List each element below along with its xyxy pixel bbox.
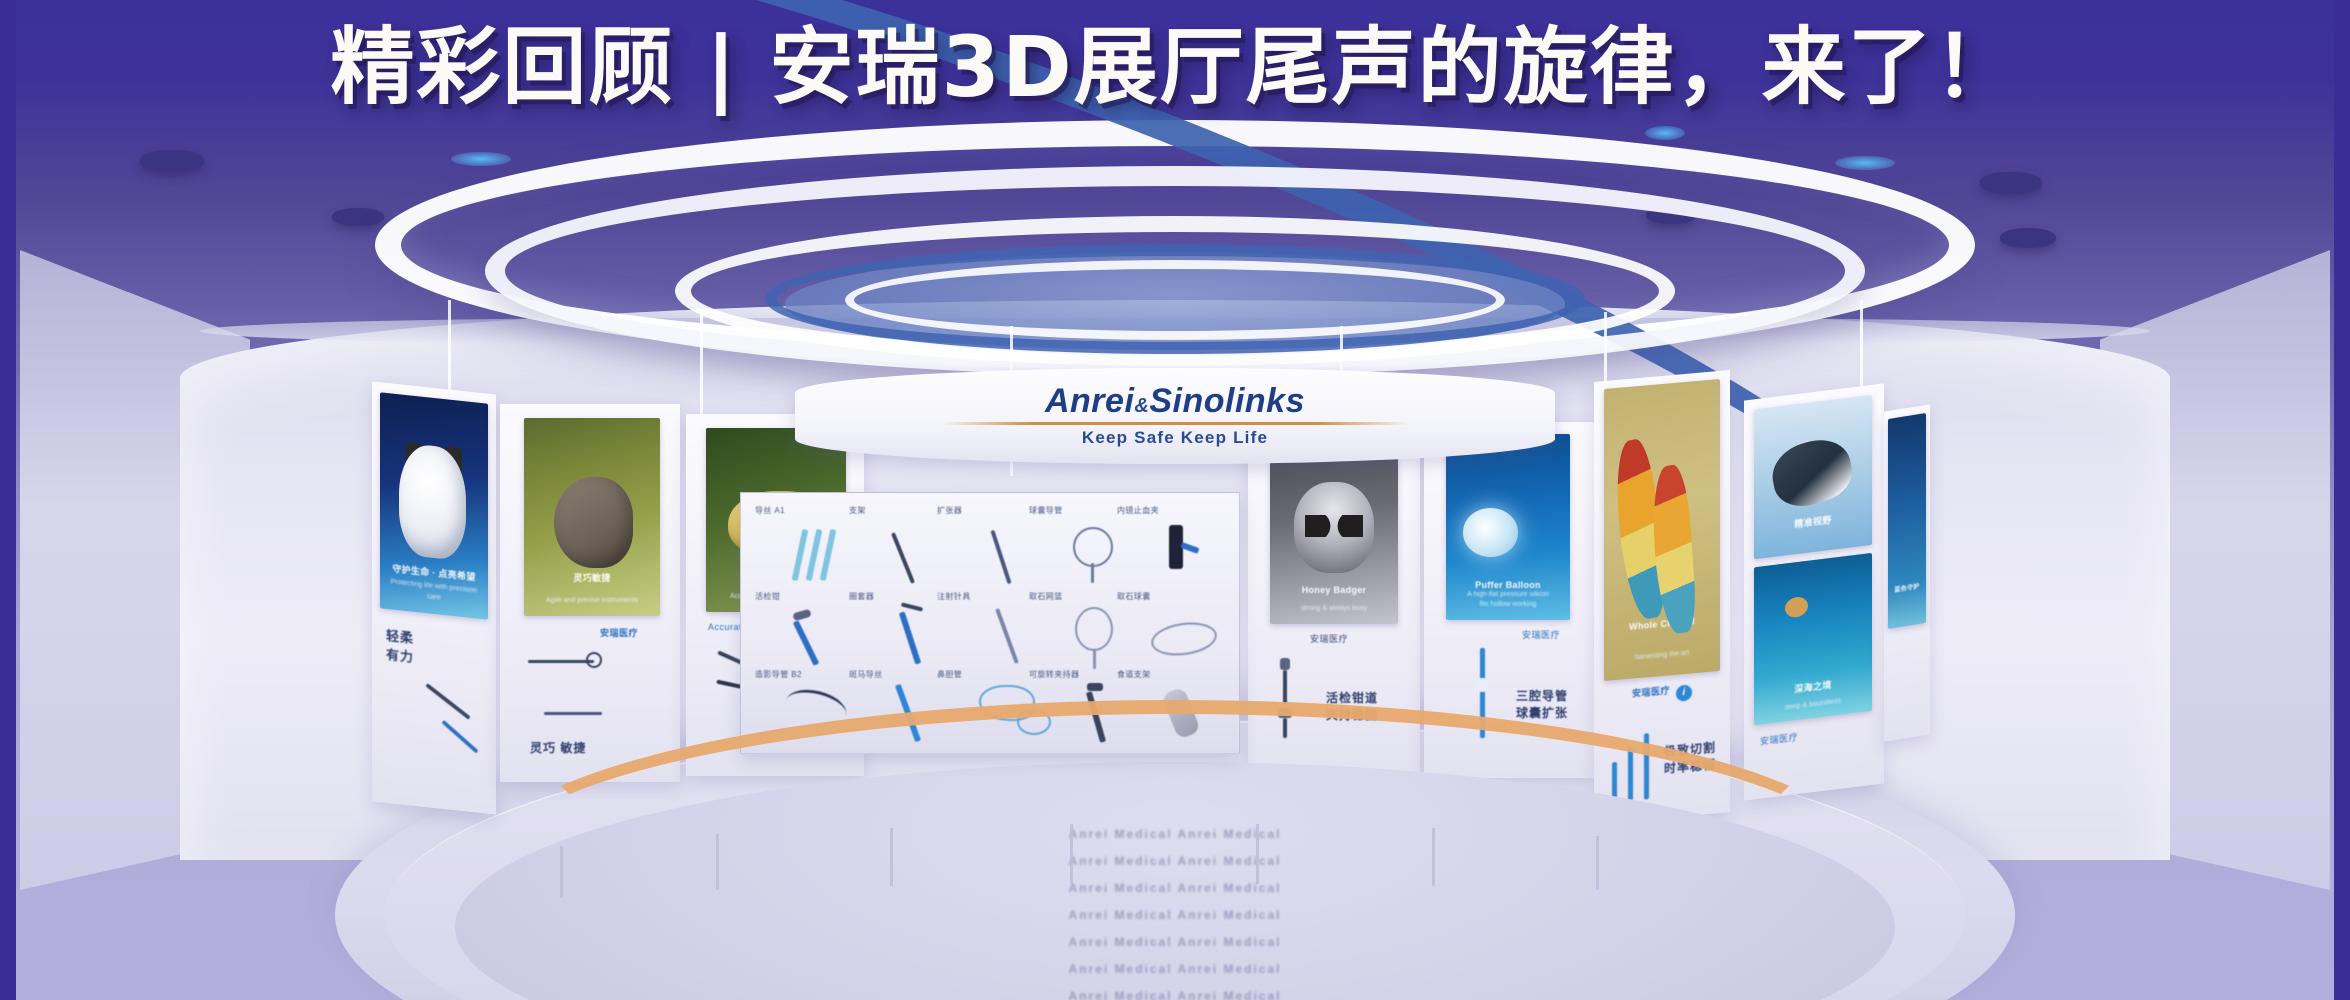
instrument-label: 造影导管 B2 <box>755 669 802 680</box>
instrument-label: 支架 <box>849 505 866 516</box>
instrument-graphic <box>416 686 486 789</box>
poster-subtitle: harvesting the art <box>1613 647 1710 666</box>
poster-title: 精准视野 <box>1761 509 1865 535</box>
poster-kangaroo: 灵巧敏捷 Agile and precise instruments <box>524 418 660 616</box>
info-icon: i <box>1676 684 1692 701</box>
panel-caption-panda: 轻柔 有力 <box>386 627 414 668</box>
instrument-graphic <box>544 696 616 730</box>
poster-ocean: 深海之境 deep & boundless <box>1754 553 1872 725</box>
instrument-label: 球囊导管 <box>1029 505 1063 516</box>
brand-divider <box>940 422 1410 425</box>
instrument-graphic <box>887 603 949 671</box>
brand-name: Anrei&Sinolinks <box>1045 384 1305 418</box>
instrument-label: 圈套器 <box>849 591 874 602</box>
instrument-graphic <box>1067 523 1127 585</box>
poster-footer-note: 安瑞医疗 <box>1760 730 1798 748</box>
poster-panda: 守护生命 · 点亮希望 Protecting life with precisi… <box>380 392 488 619</box>
ceiling-ring-innermost <box>845 260 1505 340</box>
instrument-graphic <box>1161 521 1205 585</box>
instrument-graphic <box>993 605 1051 669</box>
instrument-graphic <box>528 648 608 678</box>
poster-puffer: Puffer Balloon A high-flat pressure sili… <box>1446 434 1570 620</box>
instrument-label: 内镜止血夹 <box>1117 505 1159 516</box>
poster-title: Honey Badger <box>1278 585 1391 595</box>
ring-glow-light <box>1645 126 1685 140</box>
panel-caption-kangaroo: 灵巧 敏捷 <box>530 740 586 757</box>
exhibit-panel-eagle-ocean[interactable]: 精准视野 深海之境 deep & boundless 安瑞医疗 <box>1744 383 1884 800</box>
instrument-graphic <box>789 607 859 669</box>
instrument-label: 取石球囊 <box>1117 591 1151 602</box>
instrument-label: 活检钳 <box>755 591 780 602</box>
instrument-label: 斑马导丝 <box>849 669 883 680</box>
poster-footer-note: 安瑞医疗 <box>1522 628 1560 641</box>
brand-mark-with-icon: 安瑞医疗 i <box>1632 681 1692 705</box>
exhibit-panel-panda[interactable]: 守护生命 · 点亮希望 Protecting life with precisi… <box>372 381 496 814</box>
poster-title: Whole Clinical <box>1611 615 1713 634</box>
panel-caption-puffer: 三腔导管 球囊扩张 <box>1516 688 1568 723</box>
instrument-graphic <box>793 525 853 585</box>
poster-subtitle: A high-flat pressure silicon fits hollow… <box>1456 590 1560 611</box>
instrument-graphic <box>891 527 951 585</box>
poster-subtitle: strong & always busy <box>1280 604 1388 615</box>
instrument-graphic <box>987 527 1043 585</box>
poster-title: 蓝色守护 <box>1890 581 1923 595</box>
poster-eagle: 精准视野 <box>1754 395 1872 559</box>
ceiling-spotlight <box>1980 172 2042 194</box>
right-edge-bezel <box>2334 0 2350 1000</box>
instrument-label: 注射针具 <box>937 591 971 602</box>
poster-badger: Honey Badger strong & always busy <box>1270 442 1398 624</box>
brand-logo-panel: Anrei&Sinolinks Keep Safe Keep Life <box>795 368 1555 464</box>
poster-deep-sea: 蓝色守护 <box>1888 413 1926 629</box>
left-edge-bezel <box>0 0 16 1000</box>
poster-title: 灵巧敏捷 <box>532 571 652 584</box>
exhibit-panel-kangaroo[interactable]: 灵巧敏捷 Agile and precise instruments 安瑞医疗 … <box>500 404 680 782</box>
brand-mark-label: 安瑞医疗 <box>1632 685 1670 698</box>
brand-name-left: Anrei <box>1045 382 1134 420</box>
banner-title-bar: 精彩回顾 | 安瑞3D展厅尾声的旋律，来了！ <box>0 22 2350 113</box>
poster-footer-note: 安瑞医疗 <box>1310 632 1348 645</box>
ceiling-spotlight <box>2000 228 2056 248</box>
ceiling-spotlight <box>140 150 204 172</box>
exhibition-banner-stage: Anrei&Sinolinks Keep Safe Keep Life 守护生命… <box>0 0 2350 1000</box>
poster-bee-eater: Whole Clinical harvesting the art <box>1604 379 1720 681</box>
instrument-graphic <box>1067 603 1127 671</box>
brand-ampersand: & <box>1134 395 1149 417</box>
instrument-label: 扩张器 <box>937 505 962 516</box>
instrument-graphic <box>1151 617 1223 663</box>
exhibition-hall-3d-room: Anrei&Sinolinks Keep Safe Keep Life 守护生命… <box>0 0 2350 1000</box>
panel-brandmark: 安瑞医疗 <box>600 626 638 639</box>
poster-subtitle: Agile and precise instruments <box>535 596 649 607</box>
page-title: 精彩回顾 | 安瑞3D展厅尾声的旋律，来了！ <box>330 22 2019 113</box>
instrument-label: 导丝 A1 <box>755 505 785 516</box>
ring-glow-light <box>451 152 511 166</box>
ring-glow-light <box>1835 156 1895 170</box>
brand-tagline: Keep Safe Keep Life <box>1082 428 1268 448</box>
brand-name-right: Sinolinks <box>1149 382 1305 420</box>
exhibit-panel-deep-sea[interactable]: 蓝色守护 <box>1884 404 1930 741</box>
instrument-label: 取石网篮 <box>1029 591 1063 602</box>
